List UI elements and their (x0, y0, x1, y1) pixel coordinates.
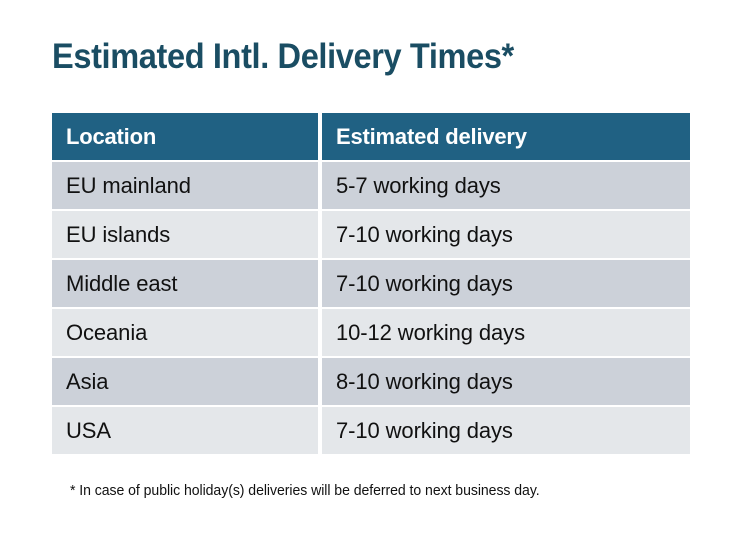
cell-location: Oceania (52, 309, 318, 356)
delivery-times-table: Location Estimated delivery EU mainland … (52, 113, 690, 454)
table-row: EU islands 7-10 working days (52, 211, 690, 258)
table-row: Middle east 7-10 working days (52, 260, 690, 307)
table-row: EU mainland 5-7 working days (52, 162, 690, 209)
page-title: Estimated Intl. Delivery Times* (52, 36, 514, 78)
cell-estimated-delivery: 5-7 working days (322, 162, 690, 209)
cell-location: Middle east (52, 260, 318, 307)
delivery-times-card: Estimated Intl. Delivery Times* Location… (0, 0, 745, 536)
table-row: Oceania 10-12 working days (52, 309, 690, 356)
cell-location: EU mainland (52, 162, 318, 209)
table-row: USA 7-10 working days (52, 407, 690, 454)
cell-estimated-delivery: 7-10 working days (322, 407, 690, 454)
column-header-location: Location (52, 113, 318, 160)
cell-estimated-delivery: 7-10 working days (322, 211, 690, 258)
cell-location: USA (52, 407, 318, 454)
table-header-row: Location Estimated delivery (52, 113, 690, 160)
footnote-text: * In case of public holiday(s) deliverie… (70, 481, 540, 501)
cell-location: Asia (52, 358, 318, 405)
table-row: Asia 8-10 working days (52, 358, 690, 405)
cell-estimated-delivery: 7-10 working days (322, 260, 690, 307)
cell-estimated-delivery: 8-10 working days (322, 358, 690, 405)
cell-location: EU islands (52, 211, 318, 258)
column-header-estimated-delivery: Estimated delivery (322, 113, 690, 160)
cell-estimated-delivery: 10-12 working days (322, 309, 690, 356)
